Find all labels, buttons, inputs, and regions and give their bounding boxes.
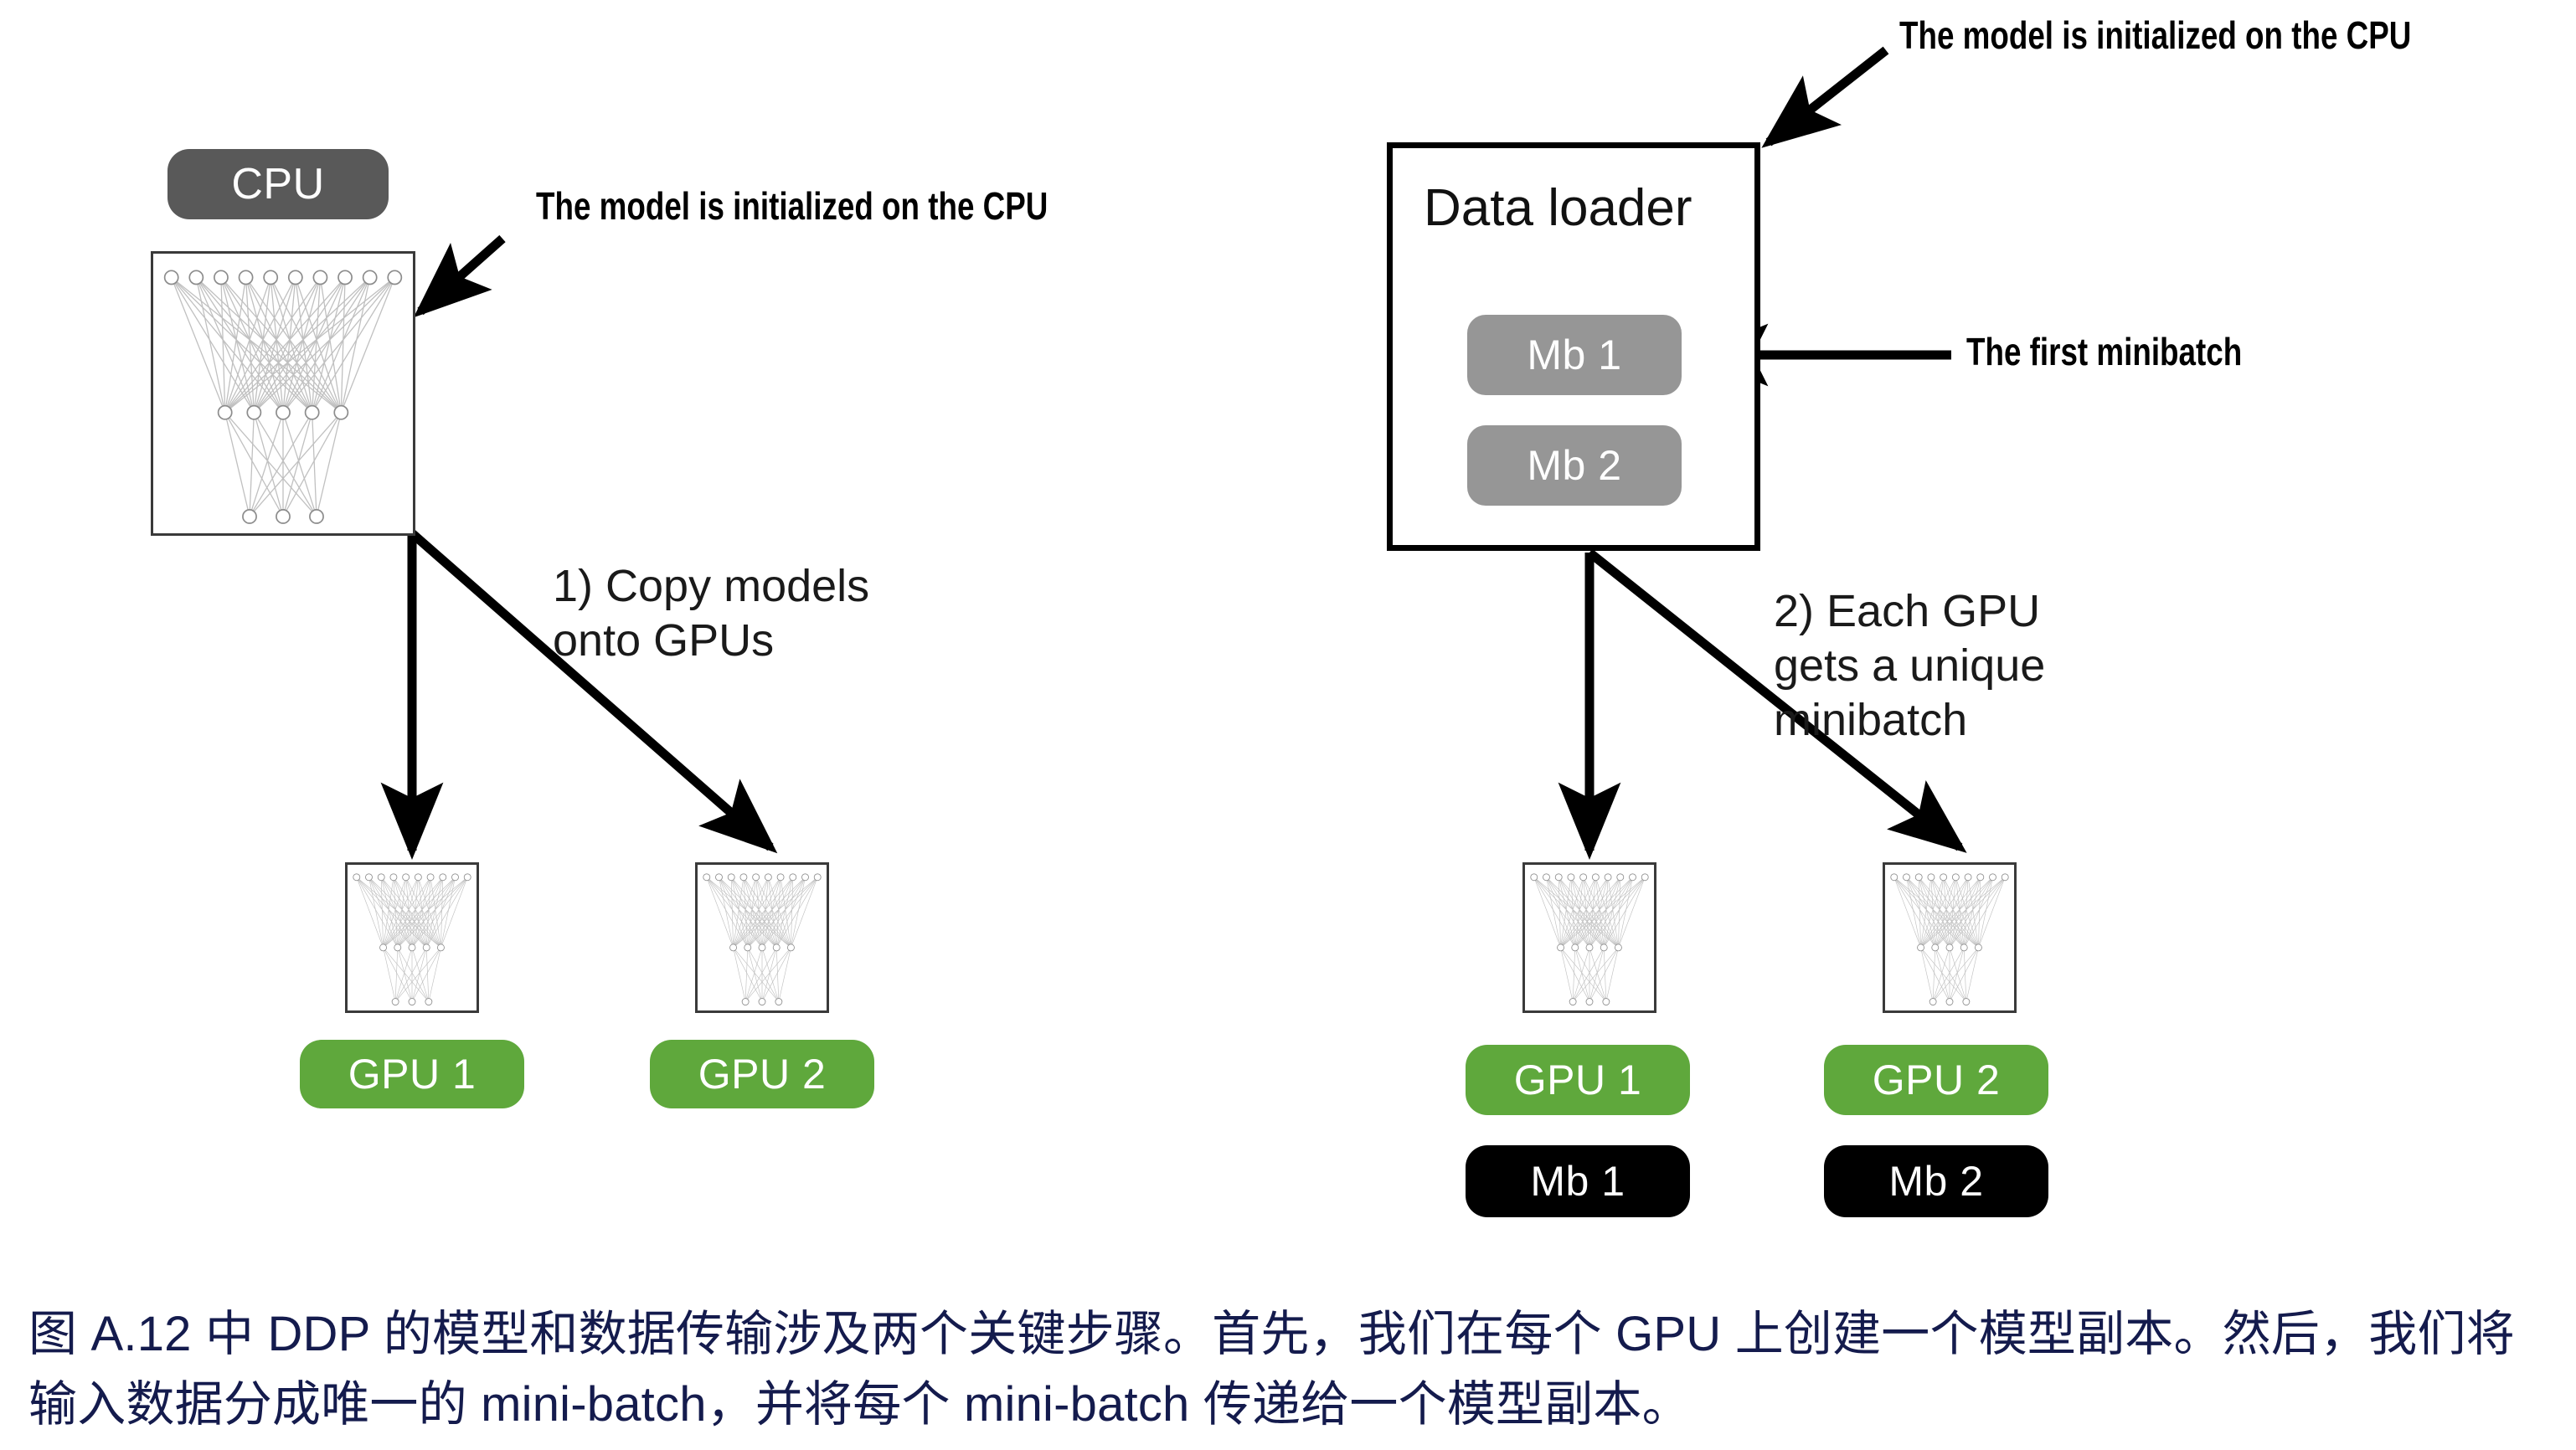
neural-network-diagram: [153, 254, 413, 533]
cpu-annotation-text: The model is initialized on the CPU: [536, 186, 1048, 226]
first-minibatch-annotation-text: The first minibatch: [1966, 332, 2242, 372]
arrow-layer: [0, 0, 2576, 1450]
minibatch-1-pill[interactable]: Mb 1: [1467, 315, 1682, 395]
data-loader-title: Data loader: [1424, 183, 1692, 234]
step-1-label: 1) Copy models onto GPUs: [553, 559, 869, 668]
neural-network-diagram: [1885, 865, 2014, 1010]
neural-network-diagram: [348, 865, 477, 1010]
right-gpu1-model-box: [1522, 862, 1656, 1013]
arrow-dataloader-annotation: [1769, 50, 1886, 142]
neural-network-diagram: [1525, 865, 1654, 1010]
figure-caption: 图 A.12 中 DDP 的模型和数据传输涉及两个关键步骤。首先，我们在每个 G…: [28, 1299, 2549, 1440]
right-gpu1-minibatch-label: Mb 1: [1530, 1160, 1625, 1202]
right-gpu2-badge-label: GPU 2: [1873, 1059, 2001, 1101]
left-gpu2-badge-label: GPU 2: [698, 1053, 827, 1095]
arrow-cpu-annotation: [420, 239, 502, 311]
right-gpu1-minibatch-badge[interactable]: Mb 1: [1466, 1145, 1690, 1217]
cpu-model-box: [151, 251, 415, 536]
left-gpu1-badge-label: GPU 1: [348, 1053, 477, 1095]
right-gpu1-badge[interactable]: GPU 1: [1466, 1045, 1690, 1115]
right-gpu2-minibatch-badge[interactable]: Mb 2: [1824, 1145, 2048, 1217]
right-gpu2-model-box: [1883, 862, 2017, 1013]
minibatch-1-label: Mb 1: [1527, 334, 1621, 376]
step-2-label: 2) Each GPU gets a unique minibatch: [1774, 584, 2045, 747]
left-gpu2-badge[interactable]: GPU 2: [650, 1040, 874, 1108]
dataloader-annotation-text: The model is initialized on the CPU: [1899, 15, 2411, 55]
cpu-badge-label: CPU: [231, 162, 324, 206]
minibatch-2-pill[interactable]: Mb 2: [1467, 425, 1682, 506]
cpu-badge[interactable]: CPU: [167, 149, 389, 219]
left-gpu1-badge[interactable]: GPU 1: [300, 1040, 524, 1108]
right-gpu2-badge[interactable]: GPU 2: [1824, 1045, 2048, 1115]
figure-canvas: CPU The model is initialized on the CPU …: [0, 0, 2576, 1450]
right-gpu2-minibatch-label: Mb 2: [1888, 1160, 1983, 1202]
minibatch-2-label: Mb 2: [1527, 445, 1621, 486]
neural-network-diagram: [698, 865, 827, 1010]
right-gpu1-badge-label: GPU 1: [1514, 1059, 1642, 1101]
left-gpu2-model-box: [695, 862, 829, 1013]
left-gpu1-model-box: [345, 862, 479, 1013]
